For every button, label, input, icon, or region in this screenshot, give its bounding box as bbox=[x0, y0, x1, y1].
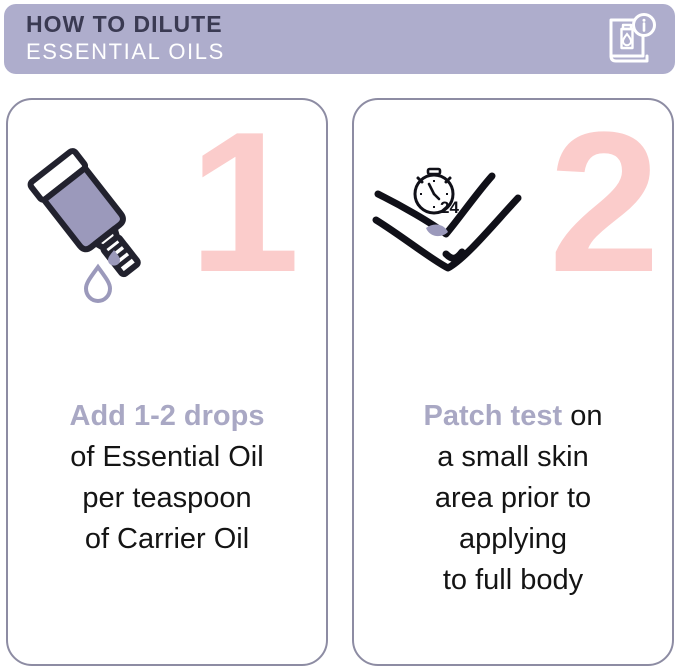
step-2-text-line-5: to full body bbox=[362, 560, 664, 601]
step-2-artwork: 2 bbox=[354, 100, 672, 350]
step-card-2[interactable]: 2 bbox=[352, 98, 674, 666]
step-1-accent-text: Add 1-2 drops bbox=[70, 400, 265, 432]
stopwatch-icon: 24 bbox=[415, 169, 459, 217]
dropper-bottle-with-drops-icon bbox=[26, 142, 156, 317]
step-1-text-line-3: per teaspoon bbox=[16, 478, 318, 519]
header-title-group: HOW TO DILUTE ESSENTIAL OILS bbox=[26, 11, 225, 66]
arm-patch-test-stopwatch-icon: 24 bbox=[372, 158, 542, 293]
header-banner: HOW TO DILUTE ESSENTIAL OILS bbox=[4, 4, 675, 74]
step-2-text: Patch test on a small skin area prior to… bbox=[362, 396, 664, 601]
step-1-artwork: 1 bbox=[8, 100, 326, 350]
step-2-text-line-4: applying bbox=[362, 519, 664, 560]
page-title: HOW TO DILUTE bbox=[26, 11, 225, 38]
stopwatch-hours-label: 24 bbox=[440, 198, 459, 217]
step-2-number: 2 bbox=[549, 108, 656, 298]
page-subtitle: ESSENTIAL OILS bbox=[26, 38, 225, 66]
step-card-1[interactable]: 1 bbox=[6, 98, 328, 666]
steps-container: 1 bbox=[0, 86, 679, 672]
step-2-text-line-2: a small skin bbox=[362, 437, 664, 478]
step-2-accent-text: Patch test bbox=[424, 400, 563, 432]
step-1-text-line-1: Add 1-2 drops bbox=[16, 396, 318, 437]
step-1-number: 1 bbox=[189, 108, 296, 298]
step-1-text-line-2: of Essential Oil bbox=[16, 437, 318, 478]
step-2-text-line-1: Patch test on bbox=[362, 396, 664, 437]
step-1-text-line-4: of Carrier Oil bbox=[16, 519, 318, 560]
step-2-text-line-3: area prior to bbox=[362, 478, 664, 519]
step-1-text: Add 1-2 drops of Essential Oil per teasp… bbox=[16, 396, 318, 560]
oil-bottle-book-info-icon bbox=[603, 12, 657, 66]
step-2-text-line-1-plain: on bbox=[562, 400, 602, 432]
